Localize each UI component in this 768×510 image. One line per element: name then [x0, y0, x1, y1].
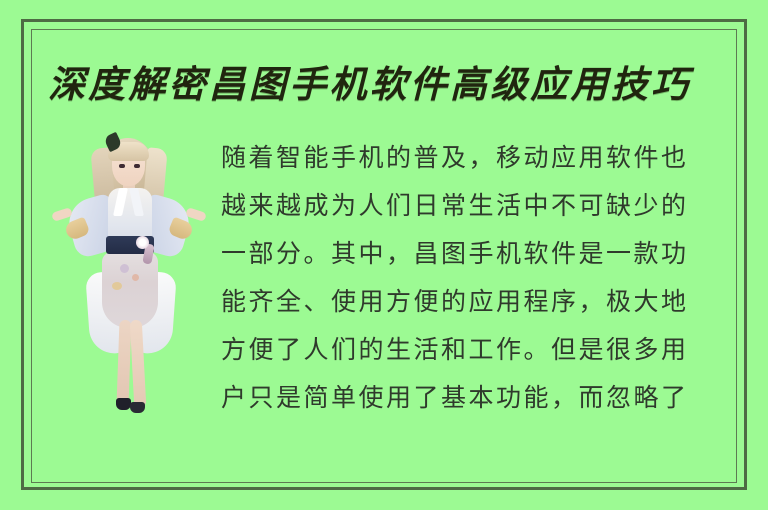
body-line: 户只是简单使用了基本功能，而忽略了: [221, 374, 737, 422]
figure-left-leg: [117, 320, 132, 406]
body-line: 方便了人们的生活和工作。但是很多用: [221, 326, 737, 374]
body-line: 一部分。其中，昌图手机软件是一款功: [221, 230, 737, 278]
body-line: 能齐全、使用方便的应用程序，极大地: [221, 278, 737, 326]
poster-canvas: 深度解密昌图手机软件高级应用技巧 随着智能手机的普及，移动应: [0, 0, 768, 510]
figure-skirt-floral-1: [120, 264, 129, 273]
article-body: 随着智能手机的普及，移动应用软件也 越来越成为人们日常生活中不可缺少的 一部分。…: [221, 134, 737, 422]
body-line: 随着智能手机的普及，移动应用软件也: [221, 134, 737, 182]
figure-right-shoe: [130, 402, 145, 413]
body-line: 越来越成为人们日常生活中不可缺少的: [221, 182, 737, 230]
illustration-anime-figure: [44, 132, 212, 418]
figure-skirt-floral-2: [132, 274, 139, 281]
figure-right-eye: [134, 164, 140, 168]
figure-left-eye: [119, 164, 125, 168]
figure-skirt-floral-3: [112, 282, 122, 290]
figure-obi-flower-ornament: [136, 236, 149, 249]
page-title: 深度解密昌图手机软件高级应用技巧: [48, 60, 720, 114]
figure-left-shoe: [116, 398, 131, 410]
